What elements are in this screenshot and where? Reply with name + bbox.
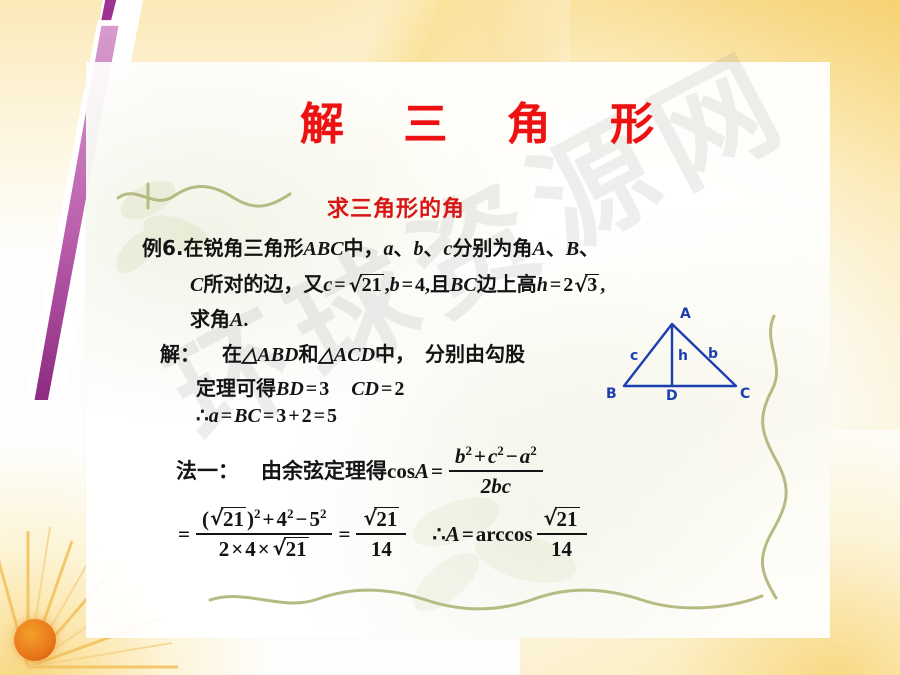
sol1-text-a: 在 — [222, 342, 242, 366]
value-b: 4 — [415, 274, 425, 296]
figure-label-h: h — [678, 348, 688, 364]
var-h: h — [537, 274, 548, 296]
eq-a3: = — [312, 405, 327, 427]
arccos-denominator: 14 — [537, 535, 587, 562]
figure-label-B: B — [606, 386, 617, 402]
var-c-2: c — [323, 274, 332, 296]
example-label: 例6. — [142, 236, 184, 260]
find-angle-text: 求角 — [190, 307, 230, 331]
eq-a1: = — [219, 405, 234, 427]
solution-line-3: ∴a=BC=3+2=5 — [196, 403, 337, 428]
cos-function: cos — [387, 459, 415, 483]
result-denominator: 14 — [356, 535, 406, 562]
num-a-exp: 2 — [530, 443, 537, 458]
final-radicand-21: 21 — [221, 507, 246, 530]
problem2-text-c: 边上高 — [477, 272, 537, 296]
squiggle-decoration-right — [758, 312, 792, 602]
therefore-symbol-1: ∴ — [196, 405, 209, 427]
radicand-3: 3 — [585, 274, 599, 296]
problem-line-1: 例6.在锐角三角形ABC中，a、b、c分别为角A、B、 — [142, 232, 599, 261]
var-angle-B: B — [566, 238, 579, 260]
eq-3: = — [548, 274, 563, 296]
num-c-exp: 2 — [497, 443, 504, 458]
num-plus: + — [472, 444, 488, 468]
num-c: c — [488, 444, 497, 468]
sqrt-21-arccos: 21 — [544, 507, 580, 532]
var-triangle-abc: ABC — [304, 238, 344, 260]
sep-1: 、 — [394, 236, 414, 260]
value-CD: 2 — [394, 378, 404, 400]
final-var-A: A — [446, 522, 460, 546]
section-subtitle: 求三角形的角 — [327, 191, 465, 223]
presentation-slide: 环球资源网 解 三 角 形 求三角形的角 例6.在锐角三角形ABC中，a、b、c… — [0, 0, 900, 675]
sol2-text-a: 定理可得 — [196, 376, 276, 400]
arccos-function: arccos — [476, 522, 533, 546]
sep-2: 、 — [424, 236, 444, 260]
triangle-figure: A B C D c b h — [604, 306, 754, 410]
problem-text-b: 中， — [344, 236, 384, 260]
final-computation-line: = (21)2+42−52 2×4×21 = 21 14 ∴A=arccos 2… — [176, 508, 591, 564]
figure-label-D: D — [666, 388, 678, 404]
final-fraction: (21)2+42−52 2×4×21 — [196, 506, 332, 562]
value-BD: 3 — [319, 378, 329, 400]
triangle-abd: △ABD — [242, 344, 299, 366]
fraction-numerator: b2+c2−a2 — [449, 443, 543, 472]
var-angle-A: A — [532, 238, 545, 260]
cosine-rule-fraction: b2+c2−a2 2bc — [449, 443, 543, 499]
sol1-text-c: 中， — [375, 342, 415, 366]
problem-text-a: 在锐角三角形 — [184, 236, 304, 260]
var-BC: BC — [450, 274, 477, 296]
solution-line-1: 解：在△ABD和△ACD中，分别由勾股 — [160, 338, 525, 367]
var-BC-result: BC — [234, 405, 261, 427]
var-b-2: b — [390, 274, 400, 296]
final-minus: − — [293, 507, 309, 531]
final-eq-3: = — [460, 522, 476, 546]
final-four: 4 — [276, 507, 287, 531]
sqrt-3: 3 — [574, 274, 599, 297]
term-3: 3 — [276, 405, 286, 427]
den-times-1: × — [229, 537, 245, 561]
problem2-text-a: 所对的边，又 — [203, 272, 323, 296]
sep-4: 、 — [579, 236, 599, 260]
leaf-decoration-left — [106, 148, 226, 288]
period-1: . — [243, 309, 248, 331]
sol1-text-d: 分别由勾股 — [425, 342, 525, 366]
figure-label-C: C — [740, 386, 750, 402]
problem-text-c: 分别为角 — [452, 236, 532, 260]
den-radicand-21: 21 — [284, 537, 309, 560]
final-denominator: 2×4×21 — [196, 535, 332, 562]
num-minus: − — [504, 444, 520, 468]
var-CD: CD — [351, 378, 379, 400]
figure-label-b: b — [708, 346, 718, 362]
result-numerator: 21 — [356, 507, 406, 535]
find-var-A: A — [230, 309, 243, 331]
paren-close: ) — [247, 507, 254, 531]
solution-line-2: 定理可得BD=3CD=2 — [196, 372, 404, 401]
value-a-5: 5 — [327, 405, 337, 427]
result-fraction: 21 14 — [356, 507, 406, 562]
cos-arg-A: A — [415, 459, 429, 483]
final-numerator: (21)2+42−52 — [196, 506, 332, 535]
num-a: a — [520, 444, 531, 468]
term-2: 2 — [302, 405, 312, 427]
eq-CD: = — [379, 378, 394, 400]
method-label: 法一： — [176, 459, 239, 483]
den-times-2: × — [256, 537, 272, 561]
final-eq-2: = — [336, 522, 352, 546]
final-eq-1: = — [176, 522, 192, 546]
five-exp: 2 — [320, 506, 327, 521]
radicand-21: 21 — [360, 274, 384, 296]
var-a: a — [384, 238, 394, 260]
var-angle-C: C — [190, 274, 203, 296]
triangle-acd: △ACD — [319, 344, 376, 366]
therefore-symbol-2: ∴ — [432, 522, 445, 546]
eq-2: = — [400, 274, 415, 296]
problem-line-2: C所对的边，又c=21,b=4,且BC边上高h=23, — [190, 268, 605, 297]
fraction-denominator: 2bc — [449, 472, 543, 499]
solution-label: 解： — [160, 342, 200, 366]
eq-cos: = — [429, 459, 445, 483]
squiggle-decoration-top — [114, 180, 294, 210]
eq-1: = — [332, 274, 347, 296]
eq-a2: = — [261, 405, 276, 427]
problem-line-3: 求角A. — [190, 303, 248, 332]
arccos-numerator: 21 — [537, 507, 587, 535]
arccos-radicand-21: 21 — [555, 507, 580, 530]
sqrt-21-result: 21 — [363, 507, 399, 532]
den-2: 2 — [219, 537, 230, 561]
method-one-line: 法一：由余弦定理得cosA= b2+c2−a2 2bc — [176, 445, 547, 501]
num-b: b — [455, 444, 466, 468]
var-BD: BD — [276, 378, 304, 400]
sun-circle-decoration — [14, 619, 56, 661]
squiggle-decoration-bottom — [206, 586, 766, 612]
final-plus: + — [260, 507, 276, 531]
result-radicand-21: 21 — [374, 507, 399, 530]
sqrt-21-final: 21 — [210, 507, 246, 532]
sep-3: 、 — [546, 236, 566, 260]
comma-3: , — [600, 274, 605, 296]
coef-2: 2 — [563, 274, 573, 296]
eq-BD: = — [304, 378, 319, 400]
paren-open: ( — [202, 507, 209, 531]
var-b: b — [414, 238, 424, 260]
sqrt-21-first: 21 — [349, 274, 384, 297]
figure-label-A: A — [680, 306, 691, 322]
sqrt-21-denominator: 21 — [273, 537, 309, 562]
figure-label-c: c — [630, 348, 638, 364]
plus-symbol: + — [286, 405, 301, 427]
sol1-text-b: 和 — [299, 342, 319, 366]
final-five: 5 — [309, 507, 320, 531]
method-text: 由余弦定理得 — [261, 459, 387, 483]
arccos-argument-fraction: 21 14 — [537, 507, 587, 562]
problem2-text-b: 且 — [430, 272, 450, 296]
page-title: 解 三 角 形 — [300, 88, 676, 152]
var-a-result: a — [209, 405, 219, 427]
den-4: 4 — [245, 537, 256, 561]
